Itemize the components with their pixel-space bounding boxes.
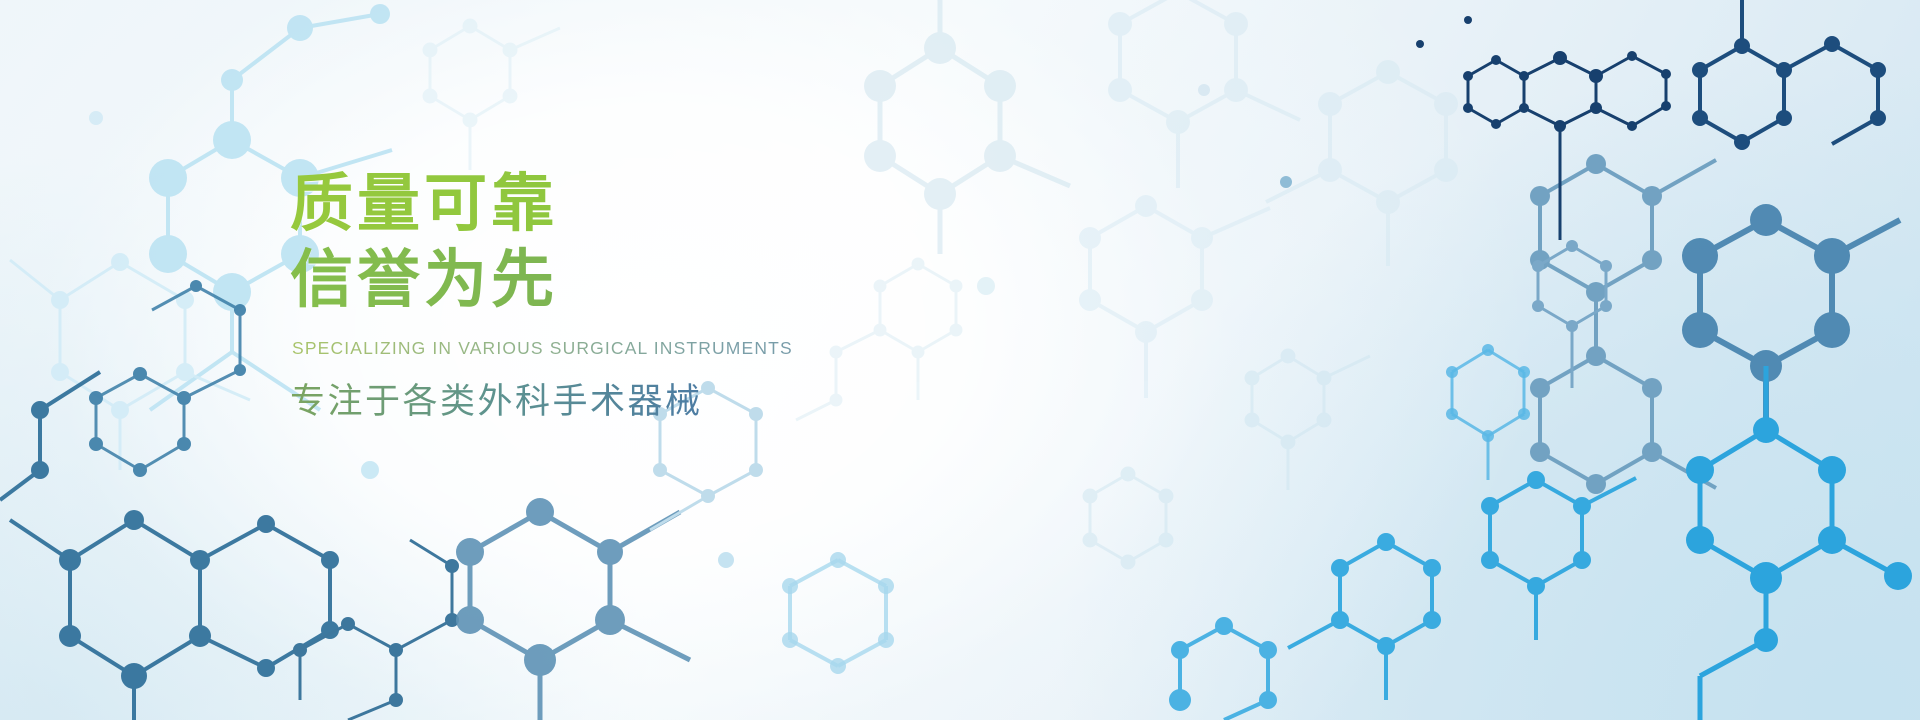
banner-copy: 质量可靠 信誉为先 SPECIALIZING IN VARIOUS SURGIC… bbox=[290, 168, 1050, 424]
headline-line-1: 质量可靠 bbox=[290, 168, 1050, 240]
hero-banner: 质量可靠 信誉为先 SPECIALIZING IN VARIOUS SURGIC… bbox=[0, 0, 1920, 720]
molecule-cluster-right-mid bbox=[1530, 154, 1900, 494]
molecule-cluster-right-faint bbox=[1083, 349, 1370, 569]
molecule-cluster-midleft bbox=[456, 381, 894, 720]
subtitle-english: SPECIALIZING IN VARIOUS SURGICAL INSTRUM… bbox=[292, 338, 1050, 359]
subtitle-chinese: 专注于各类外科手术器械 bbox=[290, 373, 1050, 424]
molecule-cluster-topleft-faint bbox=[423, 19, 560, 170]
molecule-cluster-left-faint bbox=[10, 253, 250, 470]
headline-line-2: 信誉为先 bbox=[290, 244, 1050, 316]
